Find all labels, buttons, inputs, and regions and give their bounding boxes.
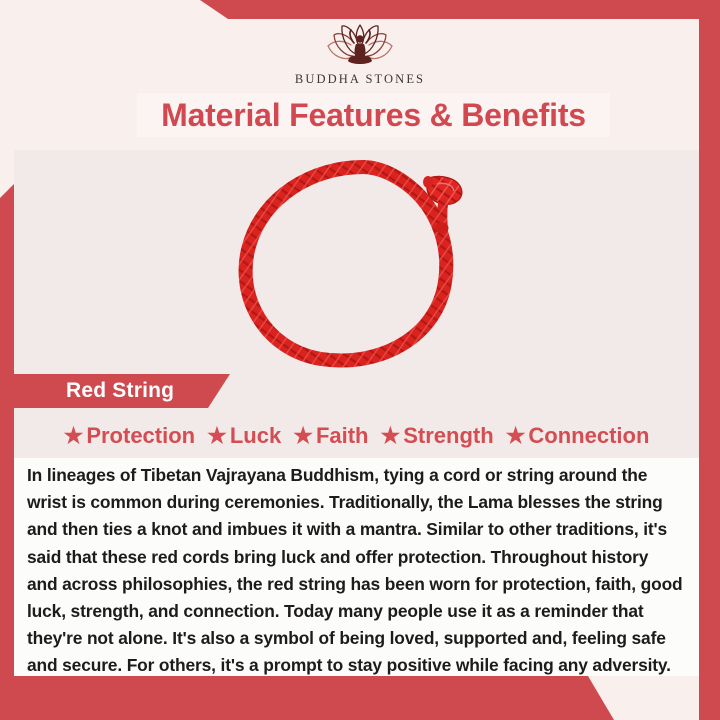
benefit-label: Strength: [403, 423, 493, 449]
star-icon: ★: [381, 425, 401, 447]
right-red-accent-bar: [699, 0, 720, 720]
star-icon: ★: [293, 425, 313, 447]
benefit-item-faith: ★Faith: [287, 423, 374, 449]
red-braided-string-bracelet-icon: [223, 154, 491, 372]
benefit-label: Faith: [316, 423, 369, 449]
product-name-ribbon: Red String: [14, 374, 230, 408]
benefit-label: Connection: [528, 423, 649, 449]
benefit-label: Luck: [230, 423, 281, 449]
benefit-item-connection: ★Connection: [500, 423, 656, 449]
title-band: Material Features & Benefits: [137, 93, 610, 137]
left-red-accent-bar: [0, 184, 14, 720]
brand-header: BUDDHA STONES: [0, 19, 720, 91]
brand-name: BUDDHA STONES: [295, 72, 425, 87]
benefits-list: ★Protection ★Luck ★Faith ★Strength ★Conn…: [14, 415, 699, 457]
star-icon: ★: [64, 425, 84, 447]
product-name-label: Red String: [66, 379, 174, 403]
description-block: In lineages of Tibetan Vajrayana Buddhis…: [14, 458, 699, 676]
page-title: Material Features & Benefits: [161, 97, 586, 134]
lotus-meditation-icon: [314, 21, 406, 71]
brand-logo: BUDDHA STONES: [295, 21, 425, 87]
benefit-item-protection: ★Protection: [58, 423, 202, 449]
benefit-item-luck: ★Luck: [201, 423, 287, 449]
infographic-page: BUDDHA STONES Material Features & Benefi…: [0, 0, 720, 720]
benefit-label: Protection: [86, 423, 195, 449]
description-paragraph: In lineages of Tibetan Vajrayana Buddhis…: [14, 458, 699, 680]
bottom-red-accent-bar: [0, 676, 720, 720]
product-image-area: [14, 150, 699, 375]
star-icon: ★: [506, 425, 526, 447]
star-icon: ★: [207, 425, 227, 447]
benefit-item-strength: ★Strength: [375, 423, 500, 449]
top-red-accent-bar: [0, 0, 720, 19]
